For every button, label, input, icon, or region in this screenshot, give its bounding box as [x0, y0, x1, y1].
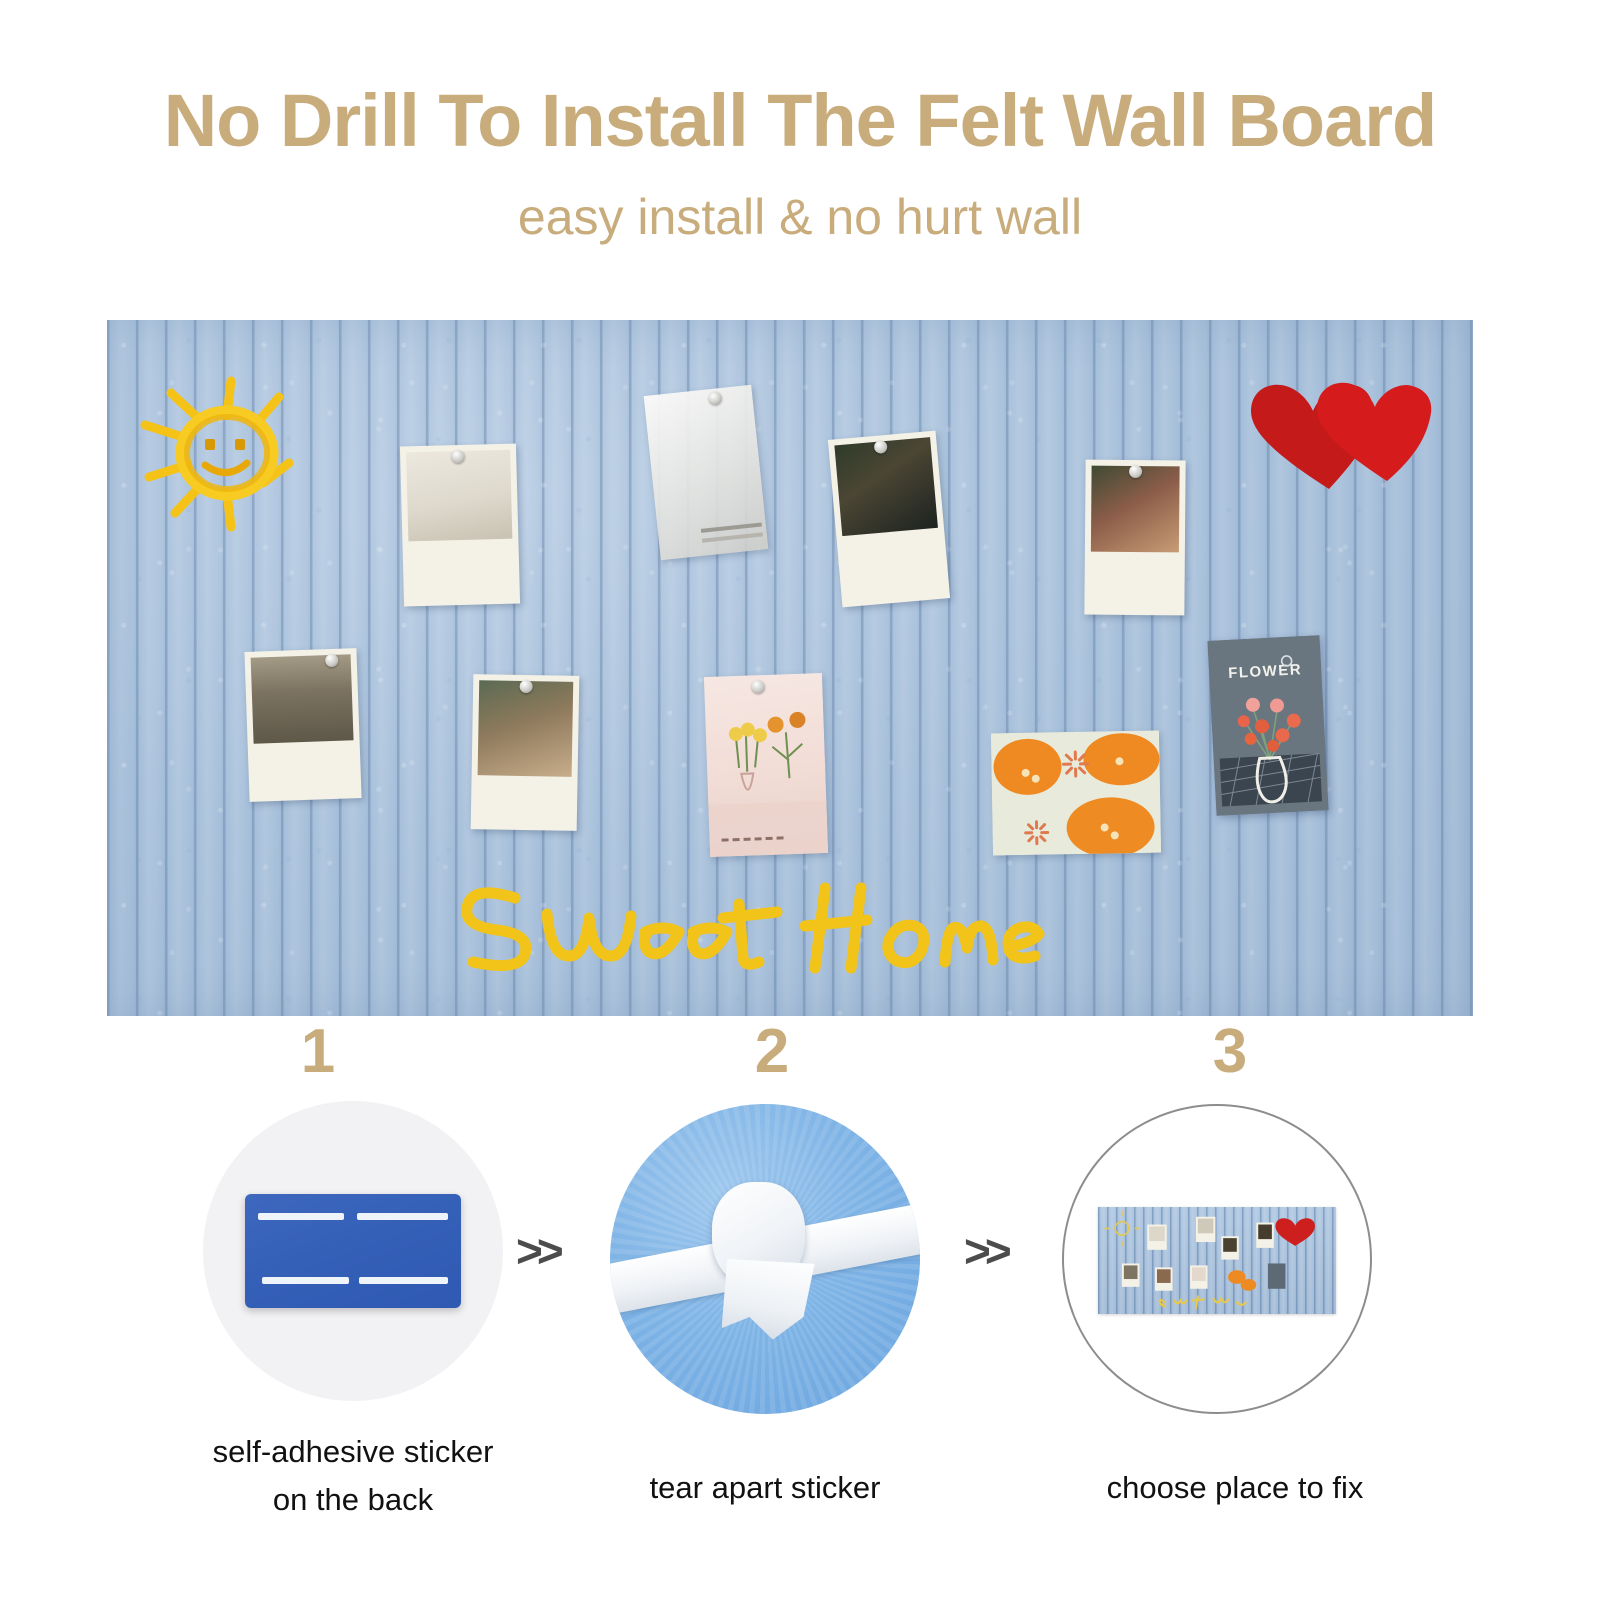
step-1-caption-line2: on the back: [113, 1476, 593, 1524]
photo-thumb: [1091, 466, 1180, 553]
header-section: No Drill To Install The Felt Wall Board …: [0, 0, 1600, 300]
adhesive-panel: [245, 1194, 461, 1308]
step-3-caption: choose place to fix: [995, 1464, 1475, 1512]
step-number-2: 2: [712, 1016, 832, 1087]
step-2-illustration: [610, 1104, 920, 1414]
step-2-caption-line1: tear apart sticker: [525, 1464, 1005, 1512]
sweet-home-felt-lettering: [447, 870, 1067, 980]
list-item[interactable]: FLOWER: [1207, 635, 1328, 816]
adhesive-strip: [262, 1277, 348, 1284]
list-item[interactable]: [244, 648, 361, 802]
photo-thumb: [251, 654, 354, 744]
photo-thumb: [478, 680, 574, 777]
list-item[interactable]: [400, 444, 520, 607]
list-item[interactable]: [704, 673, 828, 857]
pin-icon: [708, 391, 722, 405]
double-heart-icon: [1221, 375, 1441, 495]
felt-board-hero-image: FLOWER: [107, 320, 1473, 1016]
adhesive-strip: [359, 1277, 448, 1284]
adhesive-strip: [258, 1213, 344, 1220]
step-arrow-1: >>: [516, 1224, 558, 1278]
list-item[interactable]: [1084, 460, 1185, 616]
install-steps-section: 1 2 3 >> >>: [0, 1016, 1600, 1600]
step-1-caption-line1: self-adhesive sticker: [113, 1428, 593, 1476]
photo-thumb: [834, 437, 938, 536]
list-item[interactable]: [828, 431, 950, 608]
pin-icon: [1129, 465, 1142, 478]
step-3-caption-line1: choose place to fix: [995, 1464, 1475, 1512]
page-subtitle: easy install & no hurt wall: [0, 188, 1600, 246]
list-item[interactable]: [991, 731, 1161, 856]
step-1-illustration: [203, 1101, 503, 1401]
step-number-3: 3: [1170, 1016, 1290, 1087]
list-item[interactable]: [644, 385, 769, 560]
step-number-1: 1: [258, 1016, 378, 1087]
adhesive-strip: [357, 1213, 448, 1220]
step-arrow-2: >>: [964, 1224, 1006, 1278]
list-item[interactable]: [471, 674, 580, 831]
page-title: No Drill To Install The Felt Wall Board: [0, 78, 1600, 163]
peeled-backing-flap: [722, 1259, 815, 1340]
step-1-caption: self-adhesive sticker on the back: [113, 1428, 593, 1524]
photo-thumb: [406, 450, 512, 542]
step-3-illustration: [1062, 1104, 1372, 1414]
sun-doodle-icon: [135, 365, 325, 565]
mounted-board-preview: [1098, 1207, 1337, 1314]
step-2-caption: tear apart sticker: [525, 1464, 1005, 1512]
